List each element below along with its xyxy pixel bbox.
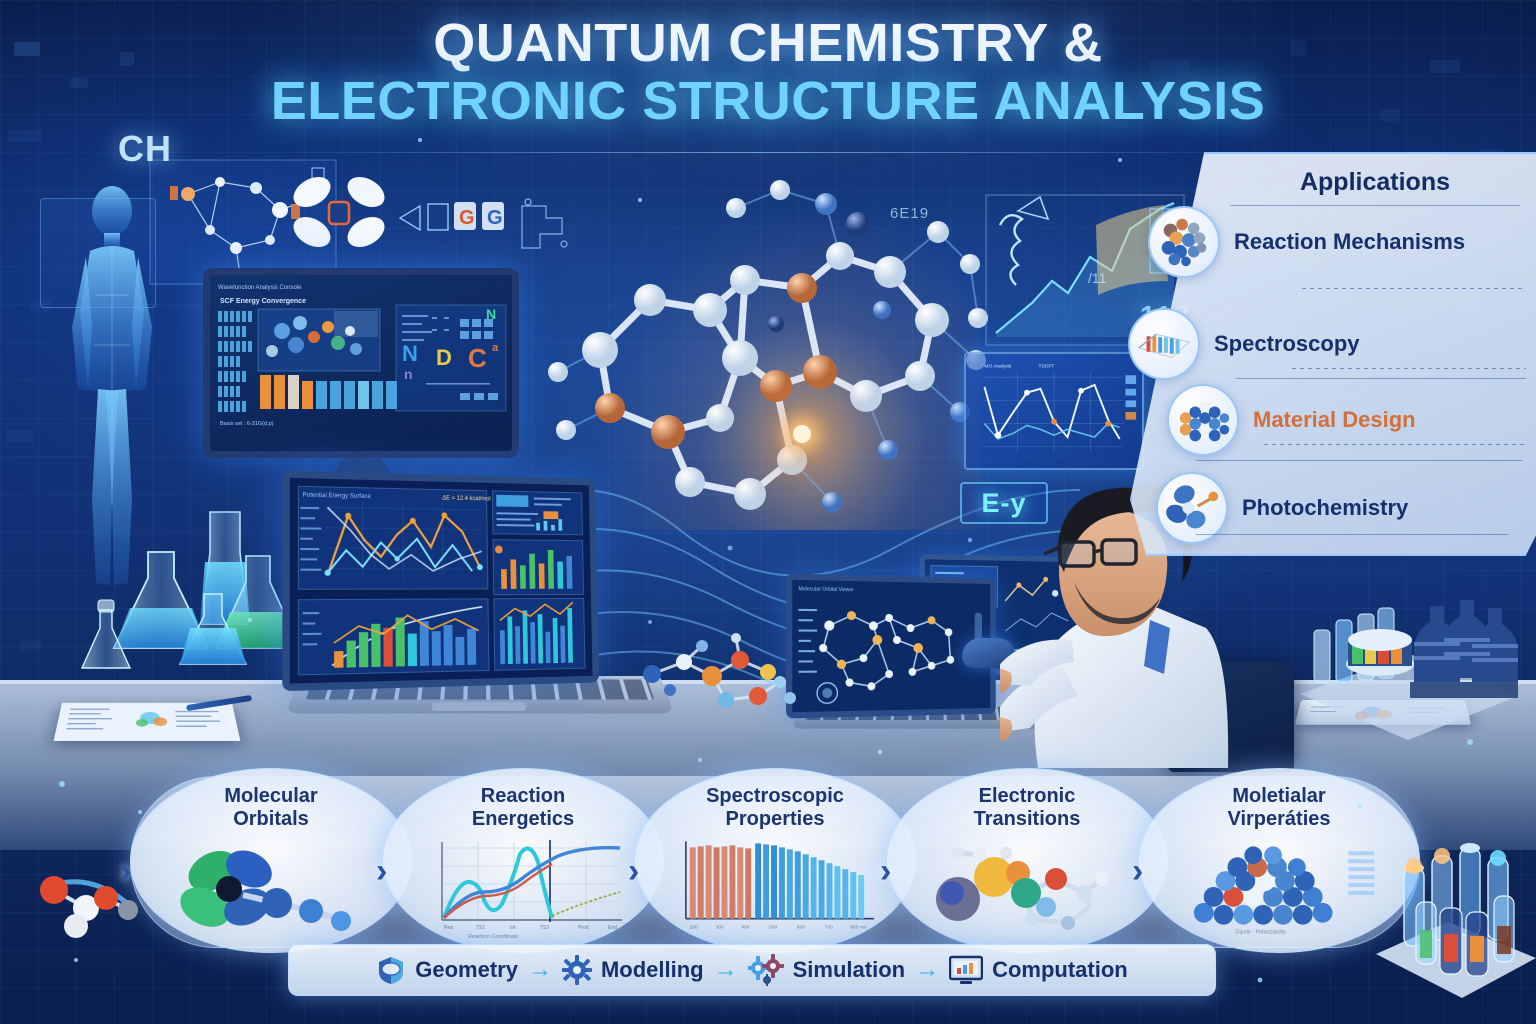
svg-text:200: 200	[690, 925, 698, 931]
svg-text:N: N	[402, 341, 418, 366]
pipeline-chevron-4: ›	[1132, 852, 1143, 891]
workflow-label: Geometry	[415, 957, 518, 983]
workflow-label: Computation	[992, 957, 1128, 983]
application-item-spectroscopy[interactable]: Spectroscopy	[1128, 308, 1528, 380]
monitor-screen: Wavefunction Analysis Console SCF Energy…	[210, 275, 512, 451]
application-label: Reaction Mechanisms	[1234, 230, 1465, 255]
svg-text:700: 700	[825, 925, 833, 931]
svg-text:SCF Energy Convergence: SCF Energy Convergence	[220, 298, 306, 305]
lattice-cluster-icon	[1167, 384, 1239, 456]
atom-pile-art: Dipole · Polarizability	[1174, 835, 1384, 939]
central-molecule-model	[540, 160, 1000, 540]
monitor-header: Wavefunction Analysis Console	[218, 285, 302, 291]
holo-line-chart-card: MO Analysis TDDFT	[964, 352, 1144, 470]
pipeline-card-title: Moletialar Virperáties	[1227, 785, 1330, 831]
svg-text:End: End	[608, 925, 617, 931]
svg-text:Int: Int	[510, 925, 516, 931]
workflow-step-simulation[interactable]: Simulation	[748, 954, 905, 986]
workflow-arrow-1: →	[714, 956, 738, 984]
physical-molecule-model	[630, 624, 810, 724]
pipeline-card-title: Molecular Orbitals	[224, 785, 317, 831]
workflow-label: Modelling	[601, 957, 704, 983]
svg-text:400: 400	[741, 925, 749, 931]
applications-divider-1	[1302, 288, 1524, 289]
applications-heading: Applications	[1275, 168, 1475, 197]
svg-text:600: 600	[797, 925, 805, 931]
applications-divider-4	[1196, 534, 1508, 535]
double-gear-icon	[748, 954, 784, 986]
test-tube-rack	[1370, 826, 1536, 1006]
svg-text:Prod: Prod	[578, 925, 589, 931]
orbital-lobes-art	[166, 835, 376, 939]
molecule-model-art	[922, 835, 1132, 939]
gear-icon	[562, 955, 592, 985]
monitor-chart-icon	[949, 955, 983, 985]
workflow-bar: Geometry → Modelling →	[288, 944, 1216, 996]
svg-text:Rea: Rea	[444, 925, 453, 931]
svg-text:MO Analysis: MO Analysis	[984, 364, 1011, 370]
workflow-label: Simulation	[793, 957, 905, 983]
energy-flare	[793, 425, 811, 443]
pipeline-chevron-3: ›	[880, 852, 891, 891]
pipeline-chevron-2: ›	[628, 852, 639, 891]
workflow-arrow-2: →	[915, 956, 939, 984]
workflow-arrow-0: →	[528, 956, 552, 984]
page-title: QUANTUM CHEMISTRY & ELECTRONIC STRUCTURE…	[0, 16, 1536, 130]
lab-notebook	[54, 703, 241, 741]
molecule-tag-label: 6E19	[890, 205, 929, 222]
workflow-step-geometry[interactable]: Geometry	[376, 955, 518, 985]
ch-formula-label: CH	[118, 128, 172, 170]
svg-text:Molecular Orbital Viewer: Molecular Orbital Viewer	[799, 586, 855, 593]
pipeline-row: Molecular Orbitals ›	[130, 768, 1420, 953]
application-item-material-design[interactable]: Material Design	[1167, 384, 1536, 456]
svg-text:Dipole · Polarizability: Dipole · Polarizability	[1235, 930, 1286, 936]
workflow-step-computation[interactable]: Computation	[949, 955, 1128, 985]
pipeline-card-title: Spectroscopic Properties	[706, 785, 844, 831]
svg-text:G: G	[459, 207, 475, 229]
svg-text:n: n	[404, 366, 413, 382]
applications-divider-3	[1264, 444, 1524, 445]
desktop-monitor[interactable]: Wavefunction Analysis Console SCF Energy…	[203, 268, 519, 458]
svg-text:TS1: TS1	[476, 925, 485, 931]
energy-profile-chart: ReaTS1Int TS2ProdEnd Reaction Coordinate	[418, 835, 628, 939]
spectrum-bar-chart: 200300400 500600700 800 nm	[670, 835, 880, 939]
applications-divider-2	[1292, 368, 1526, 369]
title-line-2: ELECTRONIC STRUCTURE ANALYSIS	[0, 73, 1536, 130]
shield-sphere-icon	[376, 955, 406, 985]
svg-text:D: D	[436, 345, 452, 370]
application-label: Spectroscopy	[1214, 332, 1360, 357]
monitor-footer: Basis set : 6-31G(d,p)	[220, 421, 274, 427]
application-label: Photochemistry	[1242, 496, 1408, 521]
svg-text:500: 500	[769, 925, 777, 931]
infographic-canvas: QUANTUM CHEMISTRY & ELECTRONIC STRUCTURE…	[0, 0, 1536, 1024]
pipeline-card-spectroscopic-properties[interactable]: Spectroscopic Properties	[634, 768, 916, 953]
svg-text:ΔE = 12.4 kcal/mol: ΔE = 12.4 kcal/mol	[442, 496, 490, 503]
molecule-cluster-icon	[1148, 206, 1220, 278]
lab-equipment-tray	[1290, 590, 1520, 740]
application-label: Material Design	[1253, 408, 1416, 433]
application-item-reaction-mechanisms[interactable]: Reaction Mechanisms	[1148, 206, 1528, 278]
svg-text:300: 300	[716, 925, 724, 931]
svg-text:TDDFT: TDDFT	[1039, 364, 1055, 370]
applications-divider-2b	[1236, 378, 1526, 379]
pipeline-card-electronic-transitions[interactable]: Electronic Transitions	[886, 768, 1168, 953]
applications-divider-3b	[1196, 460, 1522, 461]
svg-text:a: a	[492, 342, 499, 354]
title-divider	[280, 152, 1236, 153]
corner-molecule-model	[10, 846, 180, 956]
orbital-lobes-icon	[284, 168, 394, 258]
pipeline-card-title: Reaction Energetics	[472, 785, 574, 831]
laptop-primary[interactable]: Potential Energy Surface ΔE = 12.4 kcal/…	[282, 471, 599, 692]
workflow-step-modelling[interactable]: Modelling	[562, 955, 704, 985]
svg-text:Reaction Coordinate: Reaction Coordinate	[468, 934, 518, 940]
title-line-1: QUANTUM CHEMISTRY &	[0, 16, 1536, 71]
svg-text:800 nm: 800 nm	[850, 925, 866, 931]
holo-icon-row: G G	[396, 186, 596, 272]
svg-text:TS2: TS2	[540, 925, 549, 931]
svg-text:G: G	[487, 207, 503, 229]
spectrum-bars-icon	[1128, 308, 1200, 380]
svg-text:C: C	[468, 343, 487, 373]
svg-text:/11: /11	[1088, 270, 1107, 286]
pipeline-card-title: Electronic Transitions	[974, 785, 1081, 831]
pipeline-chevron-1: ›	[376, 852, 387, 891]
pipeline-card-reaction-energetics[interactable]: Reaction Energetics	[382, 768, 664, 953]
